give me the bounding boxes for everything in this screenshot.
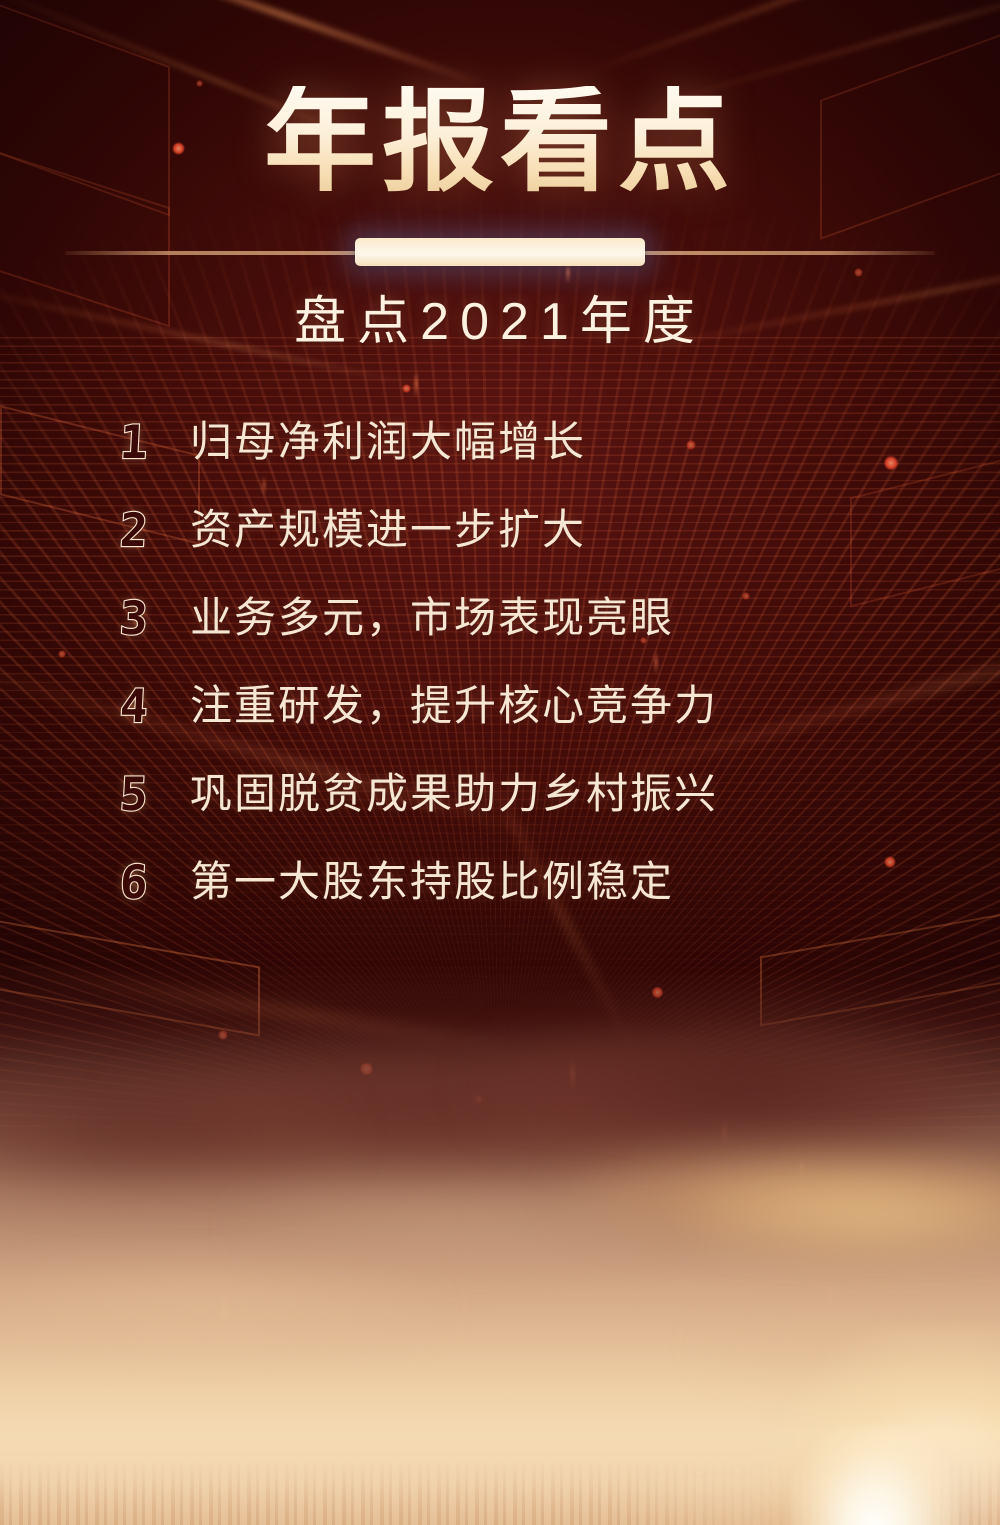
- list-item-label: 资产规模进一步扩大: [190, 509, 586, 551]
- list-item: 5 巩固脱贫成果助力乡村振兴: [120, 750, 880, 838]
- list-item-number: 1: [119, 419, 191, 465]
- page-title: 年报看点: [0, 86, 1000, 198]
- annual-report-highlights-poster: 年报看点 盘点2021年度 1 归母净利润大幅增长 2 资产规模进一步扩大 3 …: [0, 0, 1000, 1525]
- list-item-label: 第一大股东持股比例稳定: [190, 861, 674, 903]
- list-item-label: 巩固脱贫成果助力乡村振兴: [190, 773, 718, 815]
- divider-center-bar: [355, 238, 645, 266]
- list-item-label: 归母净利润大幅增长: [190, 421, 586, 463]
- list-item: 6 第一大股东持股比例稳定: [120, 838, 880, 926]
- list-item: 3 业务多元，市场表现亮眼: [120, 574, 880, 662]
- list-item-number: 5: [119, 771, 191, 817]
- list-item: 2 资产规模进一步扩大: [120, 486, 880, 574]
- list-item-number: 6: [119, 859, 191, 905]
- page-subtitle: 盘点2021年度: [0, 296, 1000, 348]
- list-item: 1 归母净利润大幅增长: [120, 398, 880, 486]
- list-item-number: 2: [119, 507, 191, 553]
- title-divider: [0, 238, 1000, 268]
- list-item: 4 注重研发，提升核心竞争力: [120, 662, 880, 750]
- list-item-number: 3: [119, 595, 191, 641]
- list-item-label: 业务多元，市场表现亮眼: [190, 597, 674, 639]
- list-item-number: 4: [119, 683, 191, 729]
- highlights-list: 1 归母净利润大幅增长 2 资产规模进一步扩大 3 业务多元，市场表现亮眼 4 …: [120, 398, 880, 926]
- list-item-label: 注重研发，提升核心竞争力: [190, 685, 718, 727]
